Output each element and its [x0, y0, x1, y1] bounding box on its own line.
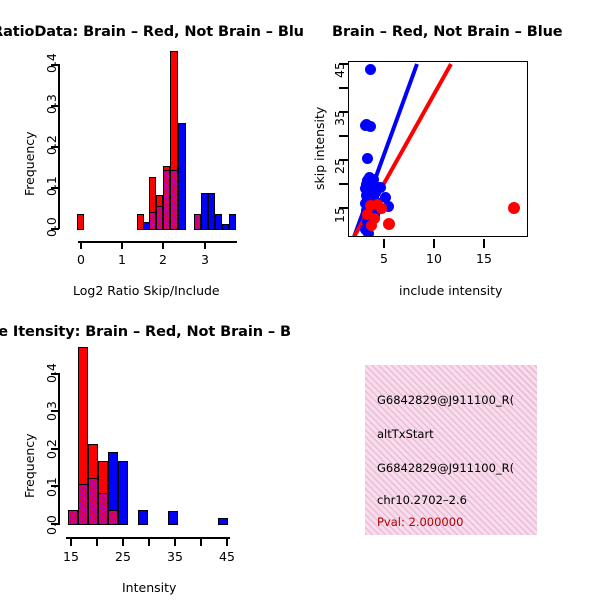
bar-blue-ratio-11 — [215, 214, 222, 230]
bar-red-ratio-0 — [77, 214, 84, 230]
xtick-intensity-1: 25 — [112, 549, 134, 564]
xtick-mark-intensity-30 — [148, 537, 150, 546]
bar-blue-intensity-7 — [168, 511, 178, 525]
ytick-mark-scatter-40 — [339, 87, 348, 89]
panel-event-info: G6842829@J911100_R( altTxStart G6842829@… — [300, 300, 600, 600]
axis-title-x-intensity: Intensity — [122, 580, 176, 595]
ytick-mark-scatter-15 — [339, 207, 348, 209]
xtick-mark-scatter-15 — [483, 239, 485, 248]
xtick-mark-scatter-10 — [433, 239, 435, 248]
xtick-mark-intensity-15 — [70, 537, 72, 546]
event-info-box: G6842829@J911100_R( altTxStart G6842829@… — [365, 365, 537, 535]
xtick-mark-intensity-25 — [122, 537, 124, 546]
ytick-mark-scatter-25 — [339, 159, 348, 161]
info-line-coordinates: chr10.2702–2.6 — [377, 493, 467, 507]
axis-title-x-include-intensity: include intensity — [399, 283, 502, 298]
bar-blue-ratio-9 — [201, 193, 208, 230]
info-line-event-type: altTxStart — [377, 427, 434, 441]
xtick-mark-ratio-1 — [121, 241, 123, 249]
axis-x-ratio — [78, 241, 237, 243]
panel-title-scatter: Brain – Red, Not Brain – Blue — [332, 24, 563, 40]
bar-overlap-ratio-8 — [194, 214, 201, 230]
xtick-ratio-0: 0 — [70, 252, 92, 267]
bar-overlap-intensity-2 — [88, 478, 98, 525]
bars-gene-intensity — [0, 300, 300, 600]
scatter-plot-area — [348, 61, 528, 237]
bar-overlap-ratio-4 — [156, 206, 163, 230]
xtick-mark-intensity-20 — [96, 537, 98, 546]
xtick-mark-intensity-40 — [200, 537, 202, 546]
xtick-ratio-3: 3 — [194, 252, 216, 267]
bar-blue-ratio-10 — [208, 193, 215, 230]
bar-overlap-ratio-3 — [149, 212, 156, 230]
bar-blue-ratio-12 — [222, 224, 229, 230]
scatter-point-blue — [360, 120, 371, 131]
bars-ratio — [0, 0, 300, 300]
xtick-scatter-1: 10 — [423, 251, 445, 266]
ytick-mark-scatter-35 — [339, 111, 348, 113]
scatter-point-blue — [365, 64, 376, 75]
bar-blue-ratio-13 — [229, 214, 236, 230]
xtick-scatter-0: 5 — [373, 251, 395, 266]
info-line-probeset-1: G6842829@J911100_R( — [377, 393, 514, 407]
xtick-scatter-2: 15 — [473, 251, 495, 266]
ytick-scatter-0: 15 — [332, 207, 347, 223]
xtick-mark-scatter-5 — [383, 239, 385, 248]
xtick-ratio-2: 2 — [152, 252, 174, 267]
xtick-mark-ratio-0 — [80, 241, 82, 249]
bar-overlap-ratio-6 — [170, 170, 178, 230]
ytick-mark-scatter-45 — [339, 63, 348, 65]
bar-blue-intensity-5 — [118, 461, 128, 525]
bar-blue-intensity-6 — [138, 510, 148, 525]
xtick-mark-intensity-45 — [226, 537, 228, 546]
xtick-mark-intensity-35 — [174, 537, 176, 546]
bar-blue-intensity-8 — [218, 518, 228, 525]
figure-canvas: RatioData: Brain – Red, Not Brain – Blu … — [0, 0, 600, 600]
scatter-point-red — [508, 202, 520, 214]
xtick-intensity-0: 15 — [60, 549, 82, 564]
xtick-intensity-2: 35 — [164, 549, 186, 564]
xtick-mark-ratio-2 — [162, 241, 164, 249]
panel-gene-intensity-histogram: ne Itensity: Brain – Red, Not Brain – B … — [0, 300, 300, 600]
bar-overlap-intensity-3 — [98, 493, 108, 525]
info-line-probeset-2: G6842829@J911100_R( — [377, 461, 514, 475]
bar-overlap-intensity-1 — [78, 484, 88, 525]
bar-overlap-ratio-5 — [163, 170, 170, 230]
ytick-mark-scatter-30 — [339, 135, 348, 137]
scatter-point-red — [366, 220, 377, 231]
info-line-pval: Pval: 2.000000 — [377, 515, 463, 529]
xtick-intensity-3: 45 — [216, 549, 238, 564]
bar-blue-ratio-7 — [178, 123, 186, 230]
bar-overlap-intensity-4 — [108, 510, 118, 525]
xtick-ratio-1: 1 — [111, 252, 133, 267]
scatter-point-red — [383, 218, 395, 230]
ytick-mark-scatter-20 — [339, 183, 348, 185]
bar-overlap-intensity-0 — [68, 510, 78, 525]
axis-title-y-skip-intensity: skip intensity — [312, 107, 327, 190]
panel-ratio-histogram: RatioData: Brain – Red, Not Brain – Blu … — [0, 0, 300, 300]
xtick-mark-ratio-3 — [204, 241, 206, 249]
panel-intensity-scatter: Brain – Red, Not Brain – Blue skip inten… — [300, 0, 600, 300]
axis-title-x-ratio: Log2 Ratio Skip/Include — [73, 283, 220, 298]
scatter-point-blue — [362, 153, 373, 164]
